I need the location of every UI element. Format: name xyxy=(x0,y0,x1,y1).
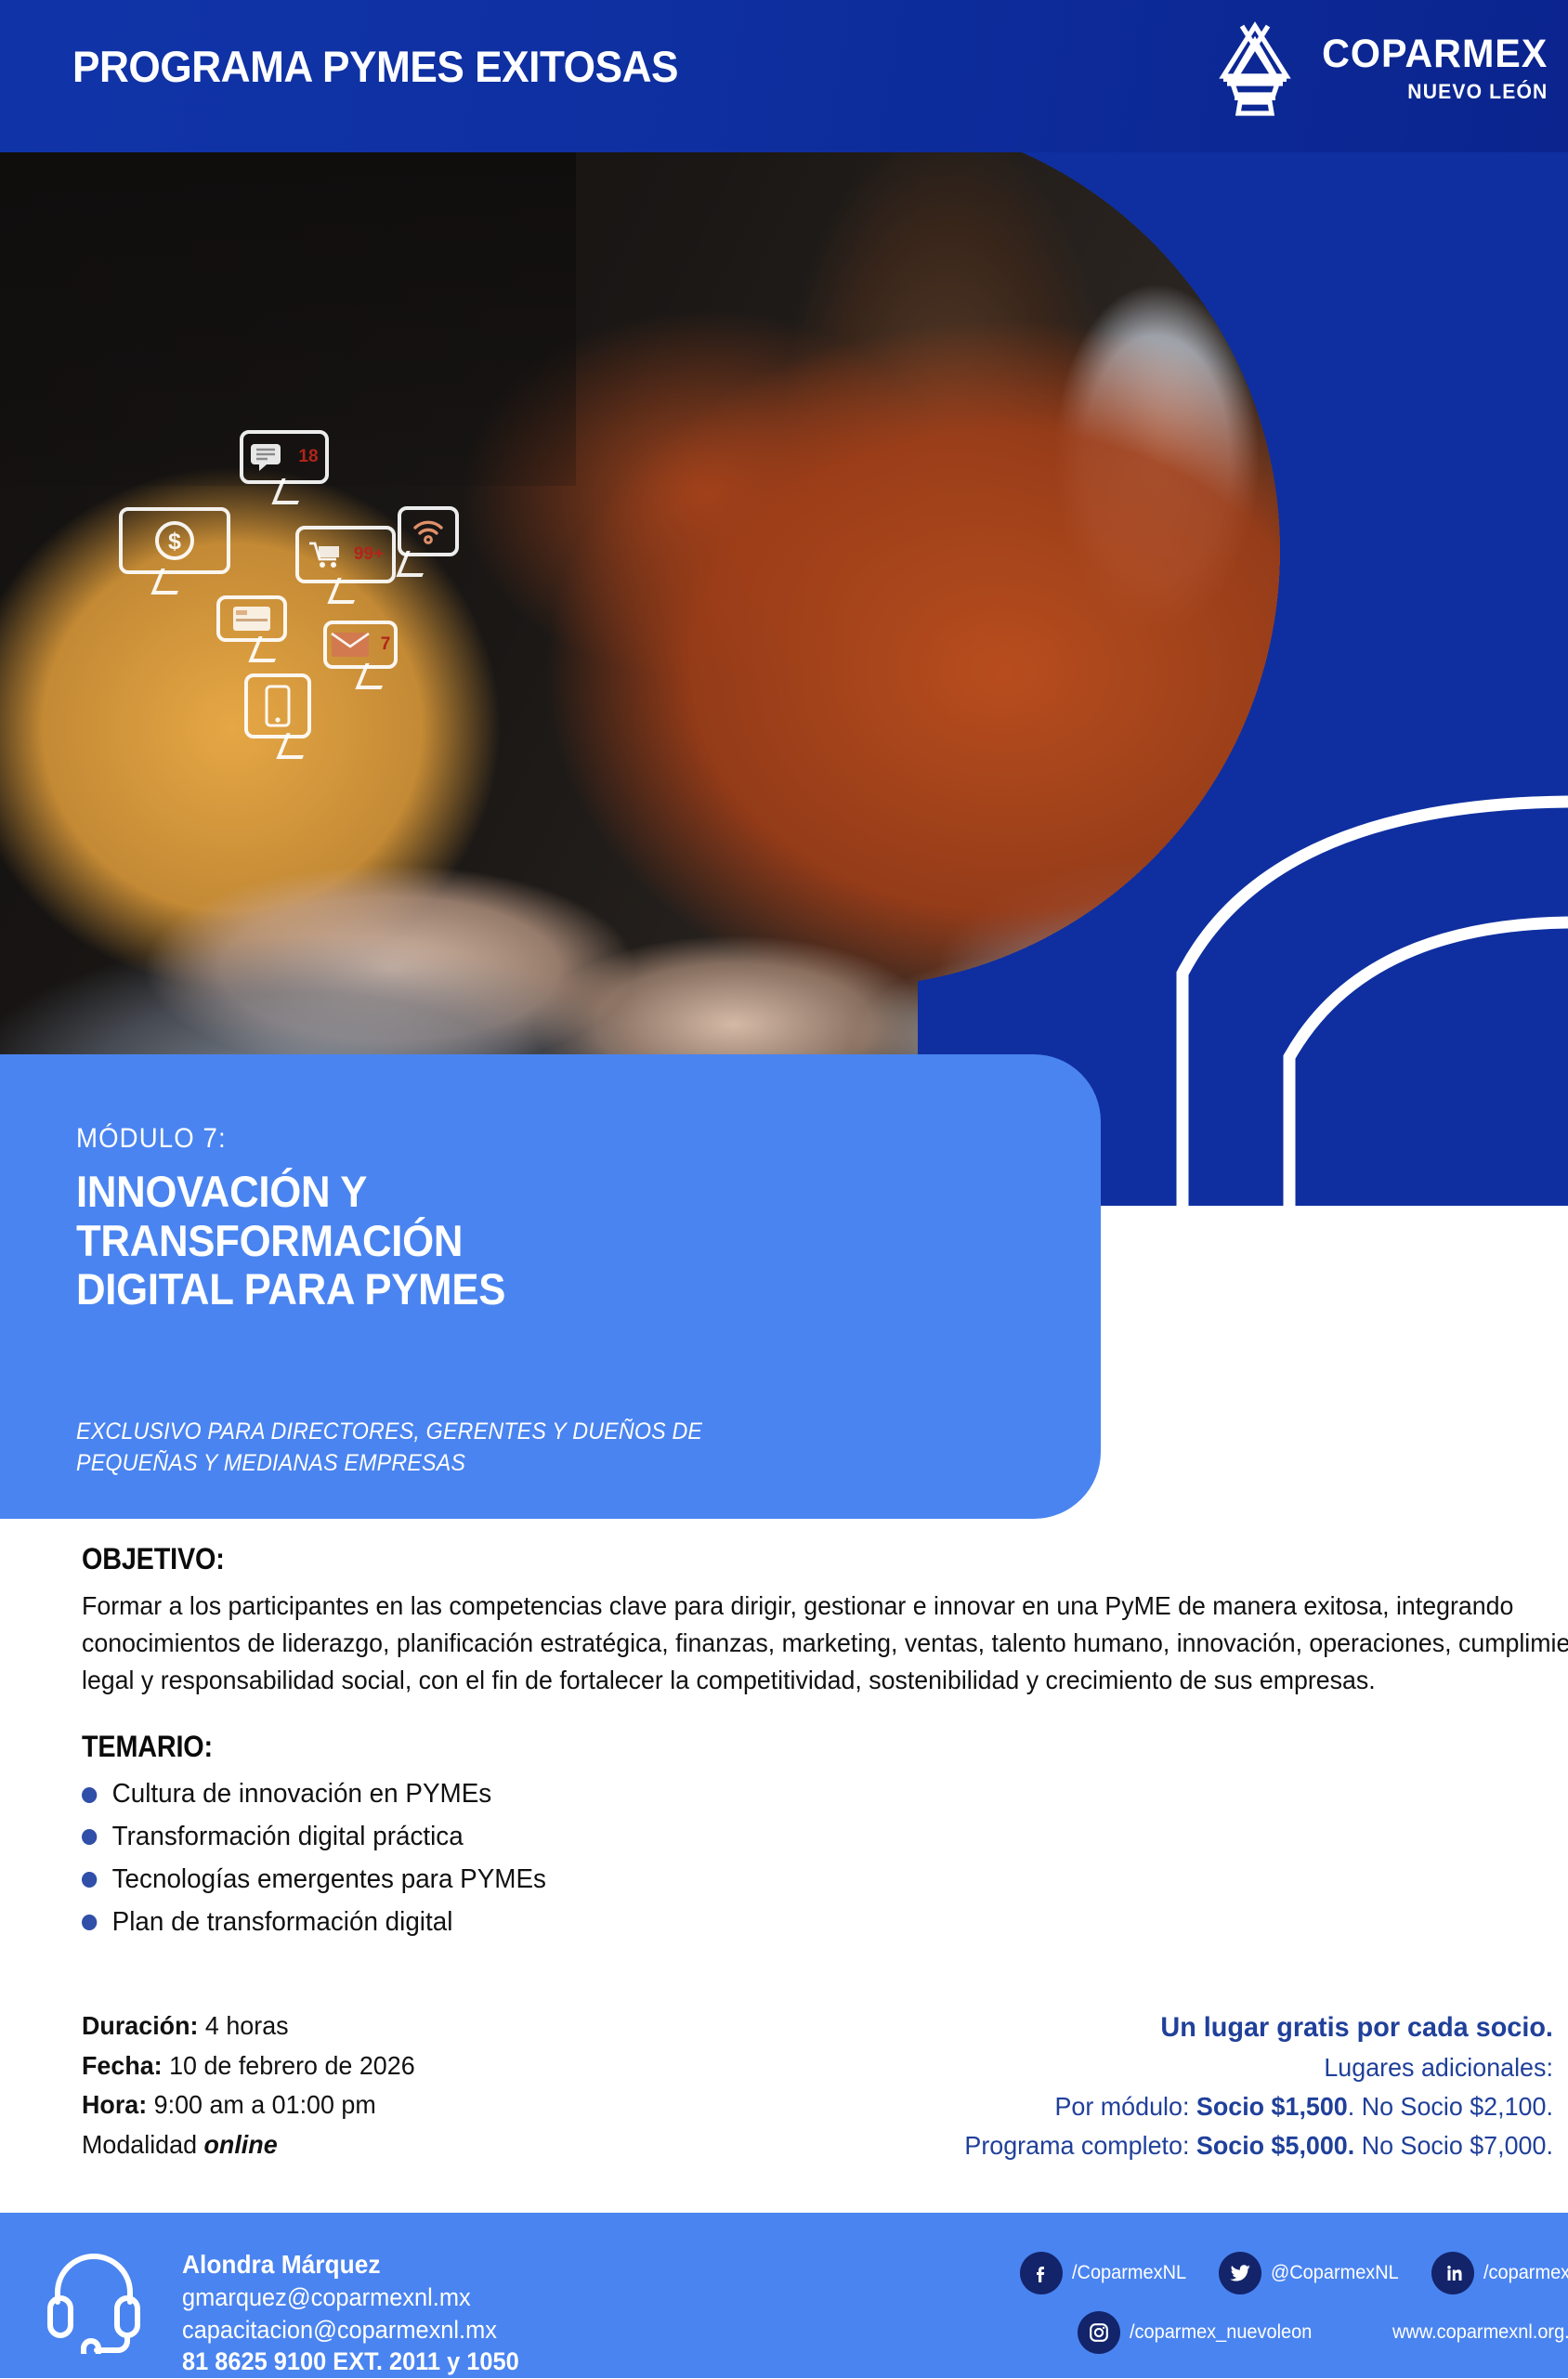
pricing-subhead: Lugares adicionales: xyxy=(964,2048,1553,2087)
temario-list: Cultura de innovación en PYMEs Transform… xyxy=(82,1773,1568,1943)
modality-value: online xyxy=(204,2130,278,2159)
bubble-phone xyxy=(244,673,311,739)
bullet-dot-icon xyxy=(82,1787,97,1803)
modality-line: Modalidad online xyxy=(82,2125,415,2165)
list-item: Tecnologías emergentes para PYMEs xyxy=(82,1859,1509,1902)
page-header: PROGRAMA PYMES EXITOSAS COPARMEX NUEVO L… xyxy=(0,0,1568,152)
temario-heading: TEMARIO: xyxy=(82,1730,1419,1764)
social-twitter[interactable]: @CoparmexNL xyxy=(1219,2252,1405,2294)
list-item: Plan de transformación digital xyxy=(82,1902,1509,1944)
social-links-row-1: /CoparmexNL @CoparmexNL /coparmexnl xyxy=(1020,2252,1568,2294)
program-title: PROGRAMA PYMES EXITOSAS xyxy=(72,41,678,92)
pricing-headline: Un lugar gratis por cada socio. xyxy=(964,2006,1553,2048)
date-line: Fecha: 10 de febrero de 2026 xyxy=(82,2046,415,2086)
time-value: 9:00 am a 01:00 pm xyxy=(147,2090,376,2119)
module-nonmember-price: . No Socio $2,100. xyxy=(1348,2092,1553,2121)
pricing-full-program: Programa completo: Socio $5,000. No Soci… xyxy=(964,2126,1553,2165)
social-facebook[interactable]: /CoparmexNL xyxy=(1020,2252,1193,2294)
svg-text:$: $ xyxy=(168,529,181,555)
bubble-chat-count: 18 xyxy=(298,447,318,467)
module-title-line-1: INNOVACIÓN Y xyxy=(76,1168,505,1217)
bubble-cart: 99+ xyxy=(295,526,396,583)
time-line: Hora: 9:00 am a 01:00 pm xyxy=(82,2085,415,2125)
bubble-mail: 7 xyxy=(323,621,398,669)
temario-item-label: Transformación digital práctica xyxy=(112,1816,464,1859)
temario-item-label: Cultura de innovación en PYMEs xyxy=(112,1773,492,1816)
coparmex-pyramid-logo xyxy=(1214,19,1296,119)
social-links-row-2: /coparmex_nuevoleon www.coparmexnl.org.m… xyxy=(1078,2311,1568,2354)
instagram-icon[interactable] xyxy=(1078,2311,1120,2354)
smartphone-icon xyxy=(265,685,291,727)
wifi-signal-icon xyxy=(411,517,446,545)
module-member-price: Socio $1,500 xyxy=(1196,2092,1348,2121)
bubble-cart-count: 99+ xyxy=(354,544,384,565)
module-title: INNOVACIÓN Y TRANSFORMACIÓN DIGITAL PARA… xyxy=(76,1168,505,1314)
bullet-dot-icon xyxy=(82,1915,97,1930)
main-content: OBJETIVO: Formar a los participantes en … xyxy=(0,1542,1568,1944)
facebook-label[interactable]: /CoparmexNL xyxy=(1072,2262,1186,2284)
envelope-mail-icon xyxy=(331,631,370,659)
coparmex-logo: COPARMEX NUEVO LEÓN xyxy=(1214,19,1548,119)
contact-email-2[interactable]: capacitacion@coparmexnl.mx xyxy=(182,2314,519,2346)
bubble-mail-count: 7 xyxy=(381,634,391,655)
bullet-dot-icon xyxy=(82,1829,97,1845)
brand-subtitle: NUEVO LEÓN xyxy=(1407,80,1548,104)
twitter-label[interactable]: @CoparmexNL xyxy=(1271,2262,1399,2284)
duration-line: Duración: 4 horas xyxy=(82,2006,415,2046)
module-title-line-3: DIGITAL PARA PYMES xyxy=(76,1265,505,1314)
shopping-cart-icon xyxy=(307,541,343,569)
contact-email-1[interactable]: gmarquez@coparmexnl.mx xyxy=(182,2281,519,2314)
modality-prefix: Modalidad xyxy=(82,2130,204,2159)
audience-line-1: EXCLUSIVO PARA DIRECTORES, GERENTES Y DU… xyxy=(76,1417,702,1448)
objective-heading: OBJETIVO: xyxy=(82,1542,1419,1576)
bubble-chat: 18 xyxy=(240,430,329,484)
duration-label: Duración: xyxy=(82,2011,198,2040)
audience-line-2: PEQUEÑAS Y MEDIANAS EMPRESAS xyxy=(76,1448,702,1480)
brand-name: COPARMEX xyxy=(1322,34,1548,74)
headset-support-icon xyxy=(39,2244,149,2354)
session-details: Duración: 4 horas Fecha: 10 de febrero d… xyxy=(82,2006,415,2165)
twitter-icon[interactable] xyxy=(1219,2252,1261,2294)
module-title-line-2: TRANSFORMACIÓN xyxy=(76,1217,505,1266)
date-value: 10 de febrero de 2026 xyxy=(163,2051,415,2080)
list-item: Cultura de innovación en PYMEs xyxy=(82,1773,1509,1816)
chat-message-icon xyxy=(250,443,287,471)
page-footer: Alondra Márquez gmarquez@coparmexnl.mx c… xyxy=(0,2213,1568,2378)
objective-text: Formar a los participantes en las compet… xyxy=(82,1588,1568,1698)
module-card: MÓDULO 7: INNOVACIÓN Y TRANSFORMACIÓN DI… xyxy=(0,1054,1101,1519)
details-and-pricing-row: Duración: 4 horas Fecha: 10 de febrero d… xyxy=(0,2006,1568,2165)
social-linkedin[interactable]: /coparmexnl xyxy=(1431,2252,1568,2294)
pricing-per-module: Por módulo: Socio $1,500. No Socio $2,10… xyxy=(964,2087,1553,2126)
hero-image: 18 $ 99+ xyxy=(0,151,1568,1206)
linkedin-label[interactable]: /coparmexnl xyxy=(1483,2262,1568,2284)
facebook-icon[interactable] xyxy=(1020,2252,1063,2294)
dollar-coin-icon: $ xyxy=(151,517,198,564)
duration-value: 4 horas xyxy=(198,2011,288,2040)
instagram-label[interactable]: /coparmex_nuevoleon xyxy=(1130,2321,1312,2344)
module-kicker: MÓDULO 7: xyxy=(76,1123,227,1155)
temario-item-label: Tecnologías emergentes para PYMEs xyxy=(112,1859,546,1902)
temario-item-label: Plan de transformación digital xyxy=(112,1902,453,1944)
linkedin-icon[interactable] xyxy=(1431,2252,1474,2294)
date-label: Fecha: xyxy=(82,2051,163,2080)
bullet-dot-icon xyxy=(82,1872,97,1888)
credit-card-icon xyxy=(232,606,271,632)
contact-phone[interactable]: 81 8625 9100 EXT. 2011 y 1050 xyxy=(182,2346,519,2378)
full-member-price: Socio $5,000. xyxy=(1196,2131,1354,2160)
contact-block: Alondra Márquez gmarquez@coparmexnl.mx c… xyxy=(182,2248,541,2379)
social-instagram[interactable]: /coparmex_nuevoleon xyxy=(1078,2311,1322,2354)
module-price-prefix: Por módulo: xyxy=(1055,2092,1196,2121)
full-nonmember-price: No Socio $7,000. xyxy=(1354,2131,1553,2160)
bubble-money: $ xyxy=(119,507,230,574)
list-item: Transformación digital práctica xyxy=(82,1816,1509,1859)
full-price-prefix: Programa completo: xyxy=(964,2131,1196,2160)
website-url[interactable]: www.coparmexnl.org.mx xyxy=(1392,2321,1568,2344)
time-label: Hora: xyxy=(82,2090,147,2119)
bubble-wifi xyxy=(398,506,459,556)
contact-name: Alondra Márquez xyxy=(182,2248,519,2281)
module-audience-note: EXCLUSIVO PARA DIRECTORES, GERENTES Y DU… xyxy=(76,1417,702,1480)
bubble-card xyxy=(216,595,287,642)
pricing-block: Un lugar gratis por cada socio. Lugares … xyxy=(964,2006,1553,2165)
